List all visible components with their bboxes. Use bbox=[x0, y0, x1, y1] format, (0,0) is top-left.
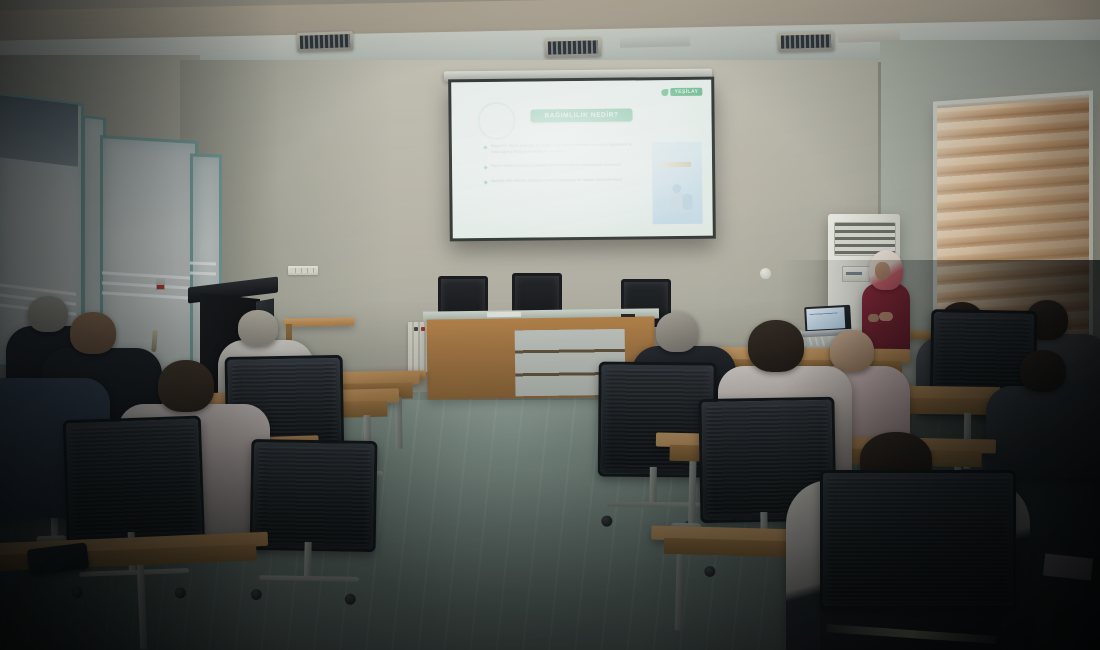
wall-outlet-plate bbox=[760, 268, 771, 279]
desk-leg bbox=[675, 554, 684, 630]
slide-bullet: Bağımlılık, kişinin kullandığı bir madde… bbox=[484, 142, 634, 155]
chair-wheel bbox=[345, 594, 356, 605]
light-grille-icon bbox=[781, 34, 832, 49]
light-grille-icon bbox=[300, 34, 351, 49]
ceiling-light-2 bbox=[545, 37, 601, 57]
chair-backrest[interactable] bbox=[250, 439, 378, 553]
glass-transom-reflection bbox=[0, 95, 78, 167]
chair-mesh bbox=[70, 423, 198, 537]
slide-bullet-text: Bağımlılık, kişinin kullandığı bir madde… bbox=[491, 142, 634, 155]
paper-on-head-table bbox=[487, 312, 521, 318]
emergency-light-icon bbox=[156, 278, 165, 290]
light-switch-panel[interactable] bbox=[288, 266, 318, 275]
slide-logo: YEŞİLAY bbox=[662, 88, 703, 96]
presenter-hand-right bbox=[879, 312, 893, 321]
slide-bullet-text: Beyinde ödül sistemini etkileyen kronik … bbox=[491, 177, 623, 184]
illustration-figure-head bbox=[672, 184, 681, 193]
slide-decoration-circle bbox=[477, 102, 515, 140]
mesh-office-chair[interactable] bbox=[820, 470, 1010, 650]
attendee-head bbox=[1020, 350, 1066, 392]
chair-wheel bbox=[602, 516, 613, 527]
projection-screen: YEŞİLAY BAĞIMLILIK NEDİR? Bağımlılık, ki… bbox=[448, 77, 716, 242]
slide-bullet-text: Kişinin madde kullanımını bırakmak istem… bbox=[491, 163, 622, 170]
illustration-bar bbox=[661, 162, 691, 167]
bullet-marker-icon bbox=[483, 145, 487, 149]
illustration-figure-side bbox=[682, 194, 692, 210]
ceiling-light-3 bbox=[778, 31, 834, 51]
ceiling-light-1 bbox=[297, 31, 354, 52]
chair-backrest[interactable] bbox=[820, 470, 1016, 609]
chair-mesh bbox=[827, 477, 1009, 602]
slide-bullet: Kişinin madde kullanımını bırakmak istem… bbox=[484, 163, 634, 170]
chair-backrest[interactable] bbox=[63, 416, 205, 545]
attendee-torso bbox=[986, 386, 1100, 478]
side-table-left-top bbox=[284, 317, 354, 326]
laptop-screen[interactable] bbox=[806, 307, 845, 330]
slide: YEŞİLAY BAĞIMLILIK NEDİR? Bağımlılık, ki… bbox=[451, 80, 713, 239]
pen-on-head-table bbox=[621, 314, 635, 317]
slide-title: BAĞIMLILIK NEDİR? bbox=[530, 108, 632, 122]
attendee-head bbox=[28, 296, 68, 332]
ceiling-vent-1 bbox=[620, 35, 690, 48]
attendee-head bbox=[158, 360, 214, 412]
slide-illustration bbox=[652, 142, 703, 225]
leaf-icon bbox=[662, 89, 669, 96]
chair-post bbox=[304, 542, 312, 580]
chair-base bbox=[259, 575, 360, 582]
attendee-head bbox=[238, 310, 278, 346]
slide-logo-label: YEŞİLAY bbox=[671, 88, 703, 96]
desk-leg bbox=[137, 565, 148, 649]
presenter-hand-left bbox=[868, 314, 879, 322]
attendee-head bbox=[830, 330, 874, 372]
radiator-indicator-icon bbox=[414, 327, 418, 331]
slide-bullet-list: Bağımlılık, kişinin kullandığı bir madde… bbox=[484, 142, 635, 193]
attendee-head bbox=[656, 312, 698, 352]
attendee-head bbox=[70, 312, 116, 354]
seminar-room-photo: YEŞİLAY BAĞIMLILIK NEDİR? Bağımlılık, ki… bbox=[0, 0, 1100, 650]
chair-mesh bbox=[257, 446, 371, 545]
presenter-face bbox=[875, 262, 890, 280]
slide-bullet: Beyinde ödül sistemini etkileyen kronik … bbox=[484, 177, 634, 184]
attendee-head bbox=[748, 320, 804, 372]
light-grille-icon bbox=[548, 40, 599, 55]
bullet-marker-icon bbox=[483, 166, 487, 170]
bullet-marker-icon bbox=[484, 180, 488, 184]
desk-leg bbox=[688, 461, 696, 525]
